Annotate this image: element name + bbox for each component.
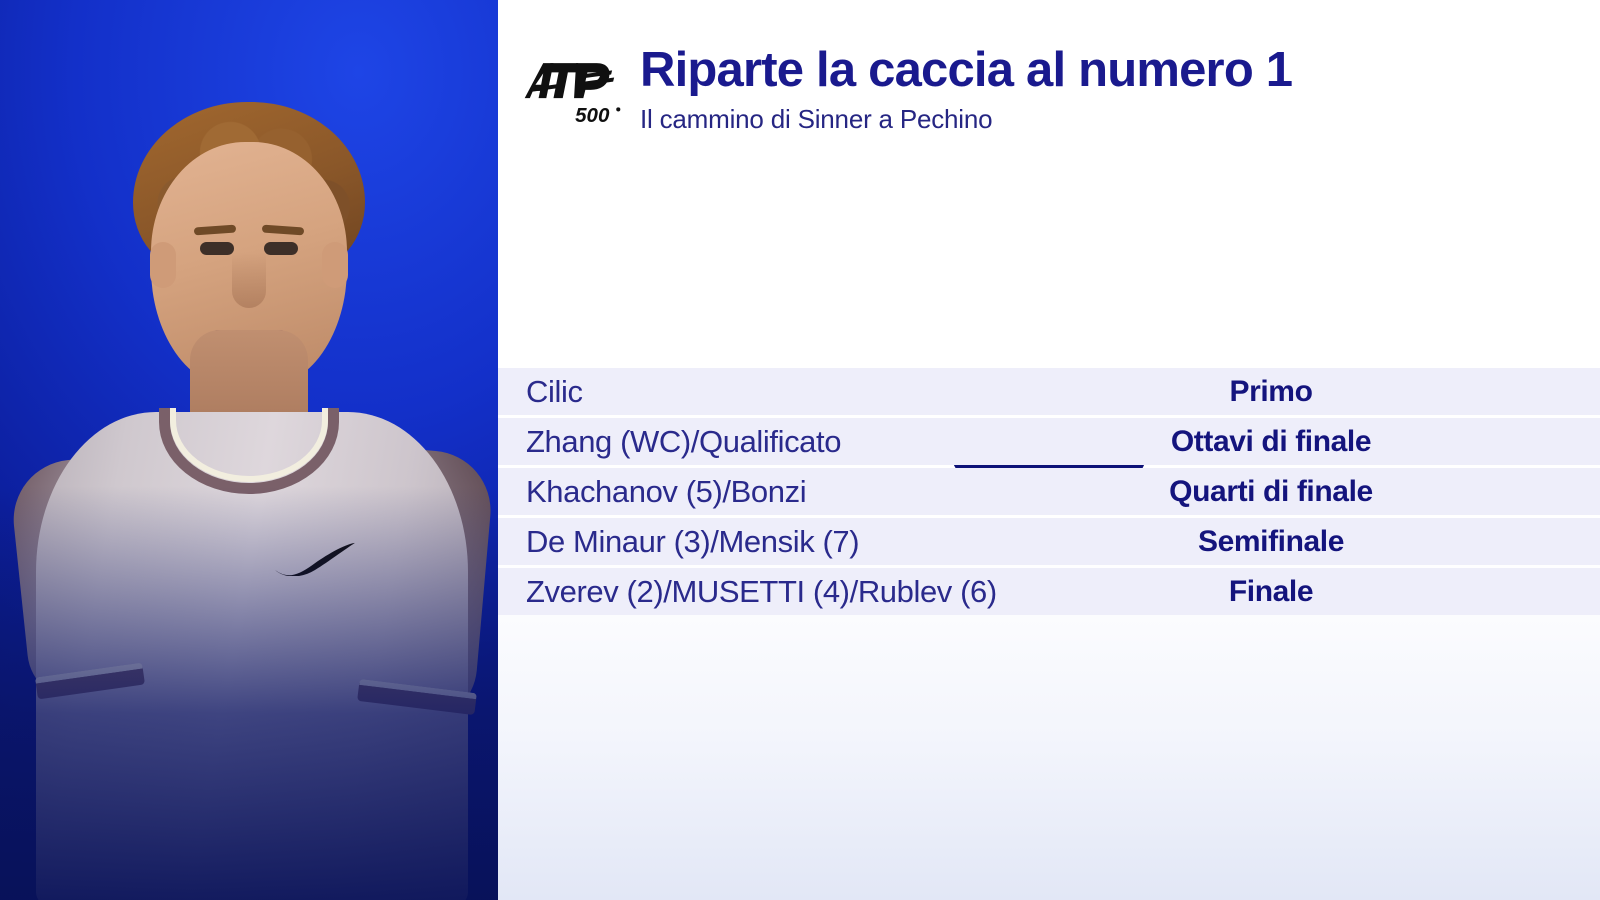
table-row: Zhang (WC)/Qualificato Ottavi di finale (498, 418, 1600, 465)
player-eye-left (200, 242, 234, 255)
page-title: Riparte la caccia al numero 1 (640, 46, 1292, 96)
cell-opponent: Khachanov (5)/Bonzi (498, 474, 1148, 510)
table-row: De Minaur (3)/Mensik (7) Semifinale (498, 518, 1600, 565)
cell-opponent: Zhang (WC)/Qualificato (498, 424, 1148, 460)
infographic-root: 500 Riparte la caccia al numero 1 Il cam… (0, 0, 1600, 900)
player-nose (232, 252, 266, 308)
title-wrap: Riparte la caccia al numero 1 Il cammino… (640, 46, 1292, 135)
photo-bottom-shade (0, 486, 498, 900)
cell-round-label: Ottavi di finale (1146, 425, 1396, 459)
atp-500-logo-icon: 500 (520, 58, 624, 130)
table-row: Zverev (2)/MUSETTI (4)/Rublev (6) Finale (498, 568, 1600, 615)
atp-logo-500-text: 500 (575, 104, 610, 127)
table-row: Khachanov (5)/Bonzi Quarti di finale (498, 468, 1600, 515)
content-panel: 500 Riparte la caccia al numero 1 Il cam… (498, 0, 1600, 900)
player-photo-panel (0, 0, 498, 900)
table-row: Cilic Primo (498, 368, 1600, 415)
cell-round-label: Quarti di finale (1146, 475, 1396, 509)
player-ear-right (322, 242, 348, 288)
cell-opponent: Cilic (498, 374, 1148, 410)
player-eye-right (264, 242, 298, 255)
cell-opponent: De Minaur (3)/Mensik (7) (498, 524, 1148, 560)
cell-round-label: Finale (1146, 575, 1396, 609)
page-subtitle: Il cammino di Sinner a Pechino (640, 104, 1292, 135)
player-ear-left (150, 242, 176, 288)
header-block: 500 Riparte la caccia al numero 1 Il cam… (520, 46, 1580, 135)
cell-round-label: Semifinale (1146, 525, 1396, 559)
cell-round-label: Primo (1146, 375, 1396, 409)
schedule-table: Avversario Turno Cilic Primo Zhang (WC)/… (498, 315, 1600, 618)
cell-opponent: Zverev (2)/MUSETTI (4)/Rublev (6) (498, 574, 1148, 610)
